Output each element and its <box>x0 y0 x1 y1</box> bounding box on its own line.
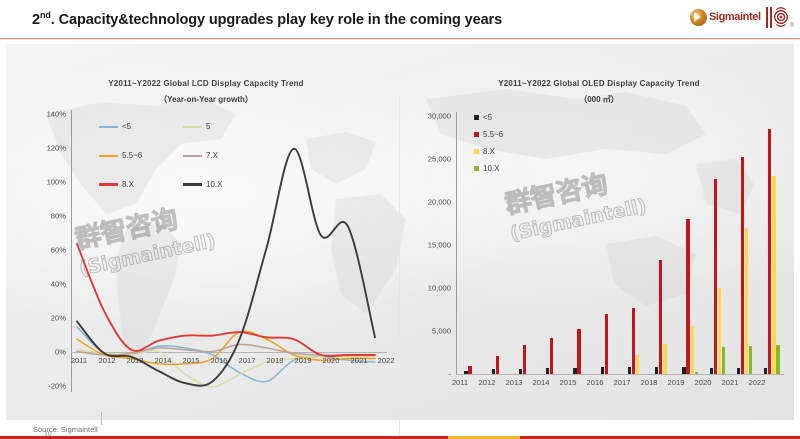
lcd-capacity-trend-chart: Y2011~Y2022 Global LCD Display Capacity … <box>6 44 399 420</box>
oled-bar-2020-5 <box>710 368 713 374</box>
lcd-ytick-0: 0% <box>6 348 66 357</box>
header-divider-secondary <box>0 39 800 40</box>
lcd-plot-area <box>71 110 387 392</box>
oled-ytick-25000: 25,000 <box>399 155 451 164</box>
oled-bar-2011-556 <box>468 366 471 374</box>
oled-bar-2018-556 <box>659 260 662 374</box>
logo-wordmark: Sigmaintel <box>709 11 761 23</box>
oled-bar-2020-556 <box>714 179 717 374</box>
lcd-series-line-10x <box>77 149 375 386</box>
oled-bar-2021-10x <box>749 346 752 374</box>
lcd-ytick-neg20: -20% <box>6 382 66 391</box>
oled-bar-2015-5 <box>573 368 576 374</box>
sigmaintel-logo: Sigmaintel ® <box>690 3 794 31</box>
logo-bars-icon <box>766 7 773 28</box>
oled-bar-2018-8x <box>663 344 666 374</box>
oled-bar-2021-556 <box>741 157 744 374</box>
oled-bar-2021-5 <box>737 368 740 374</box>
lcd-ytick-100: 100% <box>6 178 66 187</box>
oled-bar-2019-5 <box>682 367 685 374</box>
slide-header: 2nd. Capacity&technology upgrades play k… <box>0 0 800 38</box>
logo-arrow-icon <box>690 9 707 26</box>
oled-bar-2021-8x <box>745 228 748 374</box>
oled-bar-2012-556 <box>496 356 499 374</box>
oled-xtick-2022: 2022 <box>741 378 773 387</box>
lcd-series-line-7x <box>77 344 375 355</box>
oled-bar-2014-556 <box>550 338 553 374</box>
oled-ytick-30000: 30,000 <box>399 112 451 121</box>
lcd-ytick-60: 60% <box>6 246 66 255</box>
oled-bar-2020-10x <box>722 347 725 374</box>
oled-bar-2019-8x <box>691 326 694 374</box>
oled-bar-2014-5 <box>546 368 549 374</box>
lcd-ytick-120: 120% <box>6 144 66 153</box>
lcd-chart-subtitle: （Year-on-Year growth） <box>46 94 366 105</box>
oled-bar-2018-5 <box>655 367 658 374</box>
lcd-ytick-80: 80% <box>6 212 66 221</box>
footer-tick-mark <box>101 412 102 425</box>
oled-bar-2011-5 <box>464 371 467 374</box>
oled-bar-2016-5 <box>601 367 604 374</box>
oled-bar-2013-5 <box>519 369 522 374</box>
footer-divider <box>0 436 800 439</box>
oled-ytick-15000: 15,000 <box>399 241 451 250</box>
title-superscript: nd <box>40 10 51 20</box>
footer-accent-bar <box>448 436 520 439</box>
oled-bar-2022-8x <box>772 176 775 374</box>
lcd-ytick-40: 40% <box>6 280 66 289</box>
oled-chart-subtitle: （000 ㎡） <box>434 94 764 105</box>
oled-bar-2020-8x <box>718 288 721 374</box>
oled-ytick-10000: 10,000 <box>399 284 451 293</box>
oled-bar-2012-5 <box>492 369 495 374</box>
slide-root: 2nd. Capacity&technology upgrades play k… <box>0 0 800 439</box>
oled-bar-2017-8x <box>636 355 639 374</box>
oled-plot-area <box>457 112 784 374</box>
lcd-ytick-20: 20% <box>6 314 66 323</box>
oled-bar-2015-556 <box>577 329 580 374</box>
page-title: 2nd. Capacity&technology upgrades play k… <box>32 10 502 28</box>
oled-bar-2022-556 <box>768 129 771 374</box>
logo-registered-mark: ® <box>790 23 794 29</box>
oled-bar-2019-556 <box>686 219 689 374</box>
lcd-chart-title: Y2011~Y2022 Global LCD Display Capacity … <box>46 79 366 88</box>
slide-body: Y2011~Y2022 Global LCD Display Capacity … <box>6 44 794 420</box>
oled-bar-2022-10x <box>776 345 779 374</box>
title-prefix: 2 <box>32 12 40 28</box>
oled-bar-2017-556 <box>632 308 635 374</box>
oled-bar-2022-5 <box>764 368 767 374</box>
oled-x-axis <box>456 374 784 375</box>
lcd-ytick-140: 140% <box>6 110 66 119</box>
title-rest: . Capacity&technology upgrades play key … <box>51 12 502 28</box>
oled-bar-2019-10x <box>695 372 698 374</box>
source-label: Source: Sigmaintell <box>33 425 98 434</box>
oled-bar-2016-556 <box>605 314 608 374</box>
oled-bar-2013-556 <box>523 345 526 374</box>
lcd-series-line-8x <box>77 244 375 356</box>
logo-target-icon <box>774 7 787 27</box>
oled-bar-2017-5 <box>628 367 631 374</box>
oled-ytick-20000: 20,000 <box>399 198 451 207</box>
oled-ytick-5000: 5,000 <box>399 327 451 336</box>
oled-capacity-trend-chart: Y2011~Y2022 Global OLED Display Capacity… <box>399 44 794 420</box>
oled-chart-title: Y2011~Y2022 Global OLED Display Capacity… <box>434 79 764 88</box>
